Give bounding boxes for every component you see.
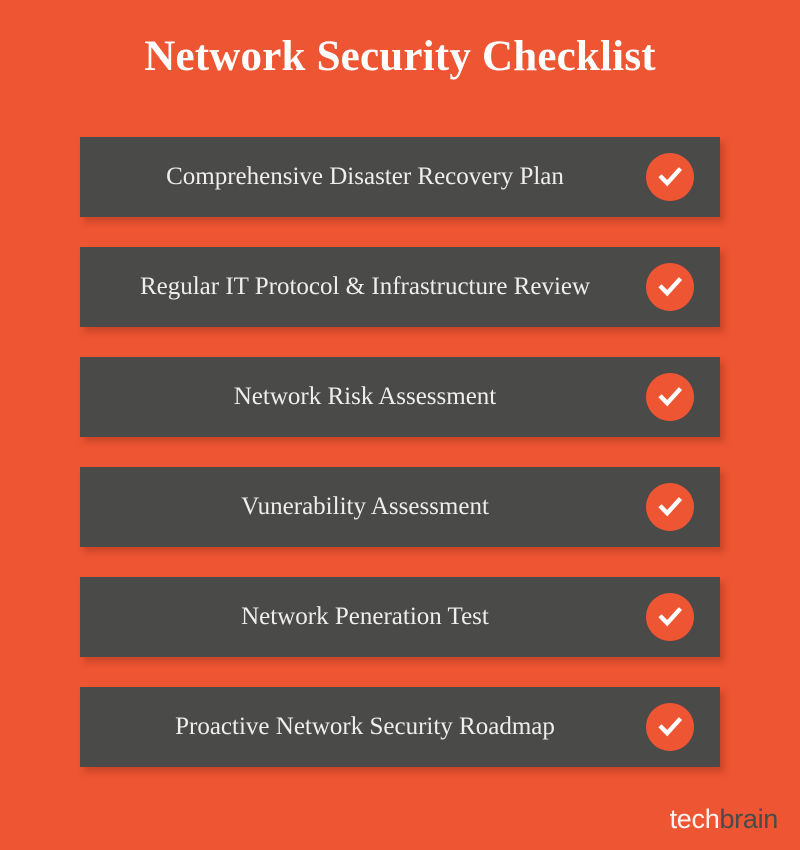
brand-logo-tech: tech [670, 804, 720, 834]
checklist-item-label: Regular IT Protocol & Infrastructure Rev… [80, 247, 650, 327]
checklist-item-4[interactable]: Vunerability Assessment [80, 467, 720, 547]
checklist-item-6[interactable]: Proactive Network Security Roadmap [80, 687, 720, 767]
checklist-item-1[interactable]: Comprehensive Disaster Recovery Plan [80, 137, 720, 217]
checklist: Comprehensive Disaster Recovery Plan Reg… [80, 137, 720, 767]
checklist-item-label: Vunerability Assessment [80, 467, 650, 547]
check-icon[interactable] [646, 153, 694, 201]
checklist-item-label: Comprehensive Disaster Recovery Plan [80, 137, 650, 217]
check-icon[interactable] [646, 263, 694, 311]
checklist-item-2[interactable]: Regular IT Protocol & Infrastructure Rev… [80, 247, 720, 327]
page-title: Network Security Checklist [0, 28, 800, 86]
brand-logo-brain: brain [719, 804, 778, 834]
checklist-item-label: Proactive Network Security Roadmap [80, 687, 650, 767]
checklist-item-label: Network Risk Assessment [80, 357, 650, 437]
brand-logo: techbrain [670, 804, 778, 834]
check-icon[interactable] [646, 593, 694, 641]
check-icon[interactable] [646, 373, 694, 421]
checklist-item-5[interactable]: Network Peneration Test [80, 577, 720, 657]
check-icon[interactable] [646, 483, 694, 531]
poster-canvas: Network Security Checklist Comprehensive… [0, 0, 800, 850]
check-icon[interactable] [646, 703, 694, 751]
checklist-item-3[interactable]: Network Risk Assessment [80, 357, 720, 437]
checklist-item-label: Network Peneration Test [80, 577, 650, 657]
